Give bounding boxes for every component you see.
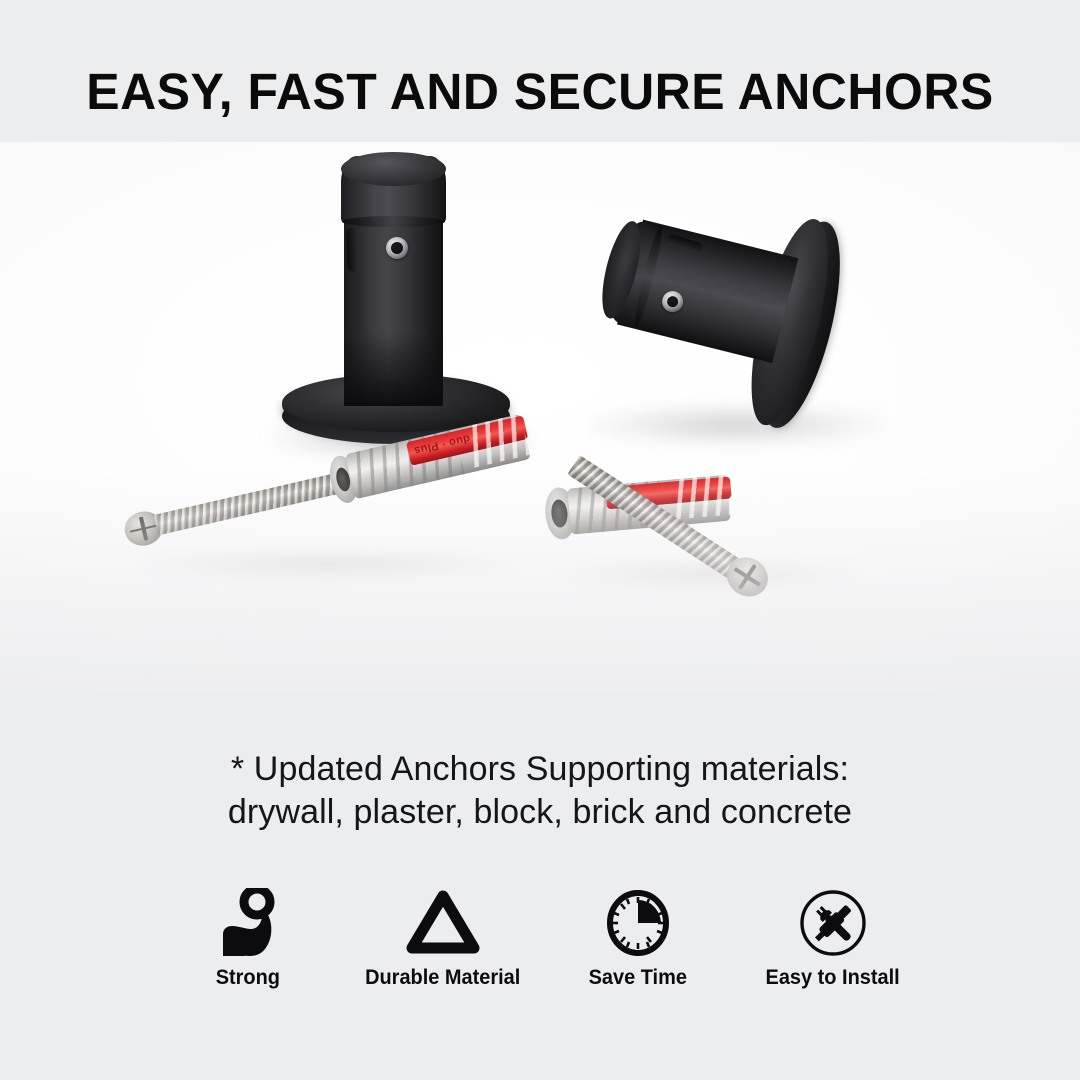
feature-strong: Strong [150,886,345,990]
clock-icon [604,886,672,960]
tools-wrench-screwdriver-icon [798,886,868,960]
caption-line-1: * Updated Anchors Supporting materials: [0,748,1080,791]
feature-durable-material: Durable Material [345,886,540,990]
caption: * Updated Anchors Supporting materials: … [0,748,1080,834]
feature-durable-material-label: Durable Material [365,966,520,990]
warning-triangle-icon [406,886,480,960]
flexed-bicep-icon [215,886,281,960]
door-stop-upright-cap-top [341,152,446,186]
page-title: EASY, FAST AND SECURE ANCHORS [11,62,1069,121]
caption-line-2: drywall, plaster, block, brick and concr… [0,791,1080,834]
door-stop-upright-seam [342,216,445,227]
feature-list: Strong Durable Material [150,886,930,990]
product-photo: duo · Plus [0,142,1080,702]
product-feature-image: EASY, FAST AND SECURE ANCHORS [0,0,1080,1080]
feature-easy-to-install: Easy to Install [735,886,930,990]
feature-easy-to-install-label: Easy to Install [765,966,899,990]
door-stop-upright-slot [346,228,359,272]
anchor-and-screw-right [545,442,855,612]
feature-save-time: Save Time [540,886,735,990]
feature-strong-label: Strong [215,966,279,990]
screw-shank-left [154,472,344,535]
door-stop-upright-set-screw-hole [391,242,403,254]
feature-save-time-label: Save Time [588,966,686,990]
